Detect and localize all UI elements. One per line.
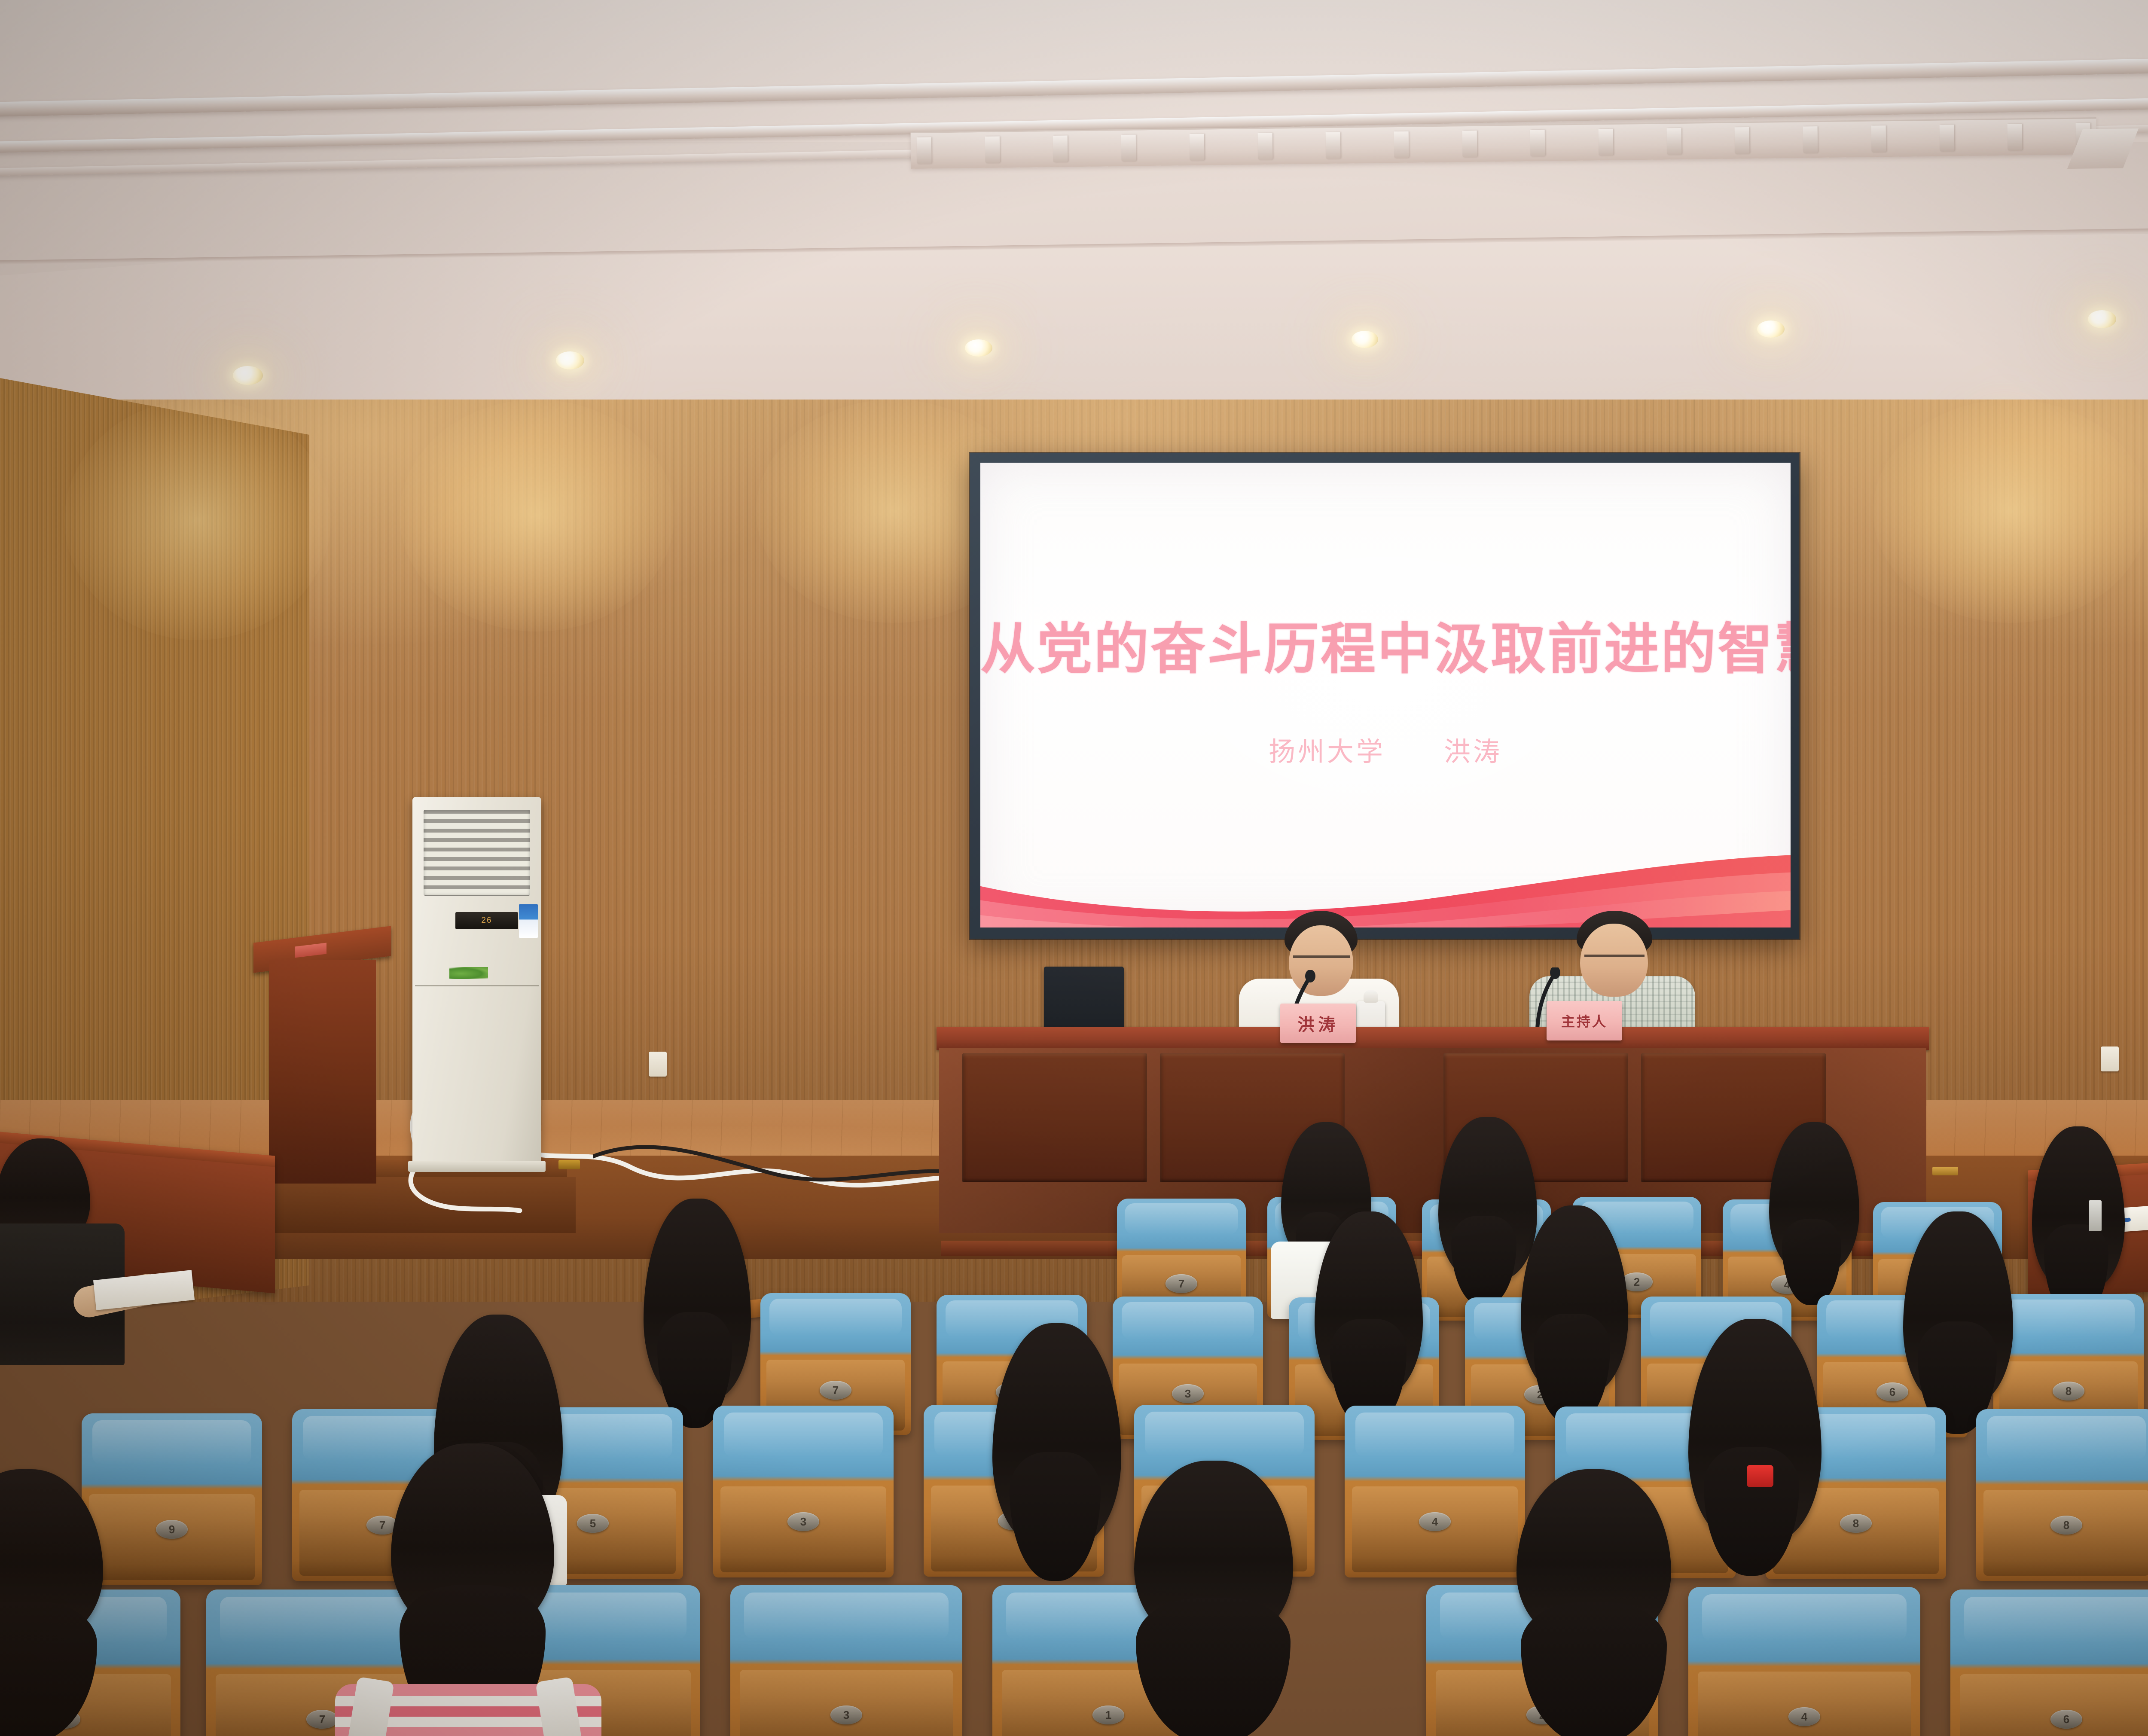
seat-number: 7: [306, 1710, 338, 1729]
air-conditioner[interactable]: 26: [412, 797, 541, 1164]
seat-number: 3: [787, 1512, 819, 1531]
projected-slide: 从党的奋斗历程中汲取前进的智慧和力量 扬州大学 洪涛: [980, 463, 1791, 927]
attendee: [644, 1199, 751, 1400]
ac-display-panel[interactable]: 26: [455, 912, 518, 929]
attendee-foreground: [0, 1469, 120, 1736]
ac-base-plinth: [408, 1161, 546, 1172]
seat-number: 7: [1166, 1274, 1197, 1293]
slide-red-ribbon-graphic: [980, 806, 1791, 927]
downlight-icon: [1352, 331, 1378, 348]
ac-panel-seam: [415, 985, 539, 986]
attendee: [1903, 1211, 2013, 1405]
nameplate-moderator: 主持人: [1547, 1001, 1622, 1040]
attendee-hair-fall: [0, 1602, 97, 1736]
attendee: [992, 1323, 1121, 1547]
nameplate-speaker-label: 洪涛: [1297, 1011, 1339, 1036]
attendee-side-left: [0, 1138, 129, 1379]
lectern: [253, 934, 391, 1184]
seat[interactable]: 4: [1688, 1587, 1920, 1736]
attendee: [2032, 1126, 2125, 1290]
seat-number: 7: [820, 1381, 851, 1400]
ac-display-value: 26: [455, 912, 518, 929]
downlight-icon: [556, 351, 584, 369]
slide-title: 从党的奋斗历程中汲取前进的智慧和力量: [980, 604, 1791, 684]
attendee-hair-clip: [1747, 1465, 1773, 1487]
attendee-hair-clip: [2089, 1200, 2102, 1231]
seat-number: 8: [1840, 1514, 1872, 1533]
nameplate-moderator-label: 主持人: [1561, 1011, 1608, 1031]
speaker-glasses-icon: [1293, 955, 1350, 963]
lectern-body: [269, 960, 376, 1184]
seat-number: 4: [1419, 1512, 1451, 1531]
head-table-panel: [962, 1053, 1147, 1182]
downlight-icon: [965, 339, 992, 357]
moderator-glasses-icon: [1584, 955, 1645, 962]
slide-subtitle: 扬州大学 洪涛: [980, 730, 1791, 769]
seat-number: 9: [156, 1520, 188, 1539]
seat[interactable]: 3: [730, 1585, 962, 1736]
downlight-icon: [233, 366, 263, 385]
head-table-top: [937, 1027, 1929, 1050]
attendee: [1688, 1319, 1822, 1542]
downlight-icon: [1757, 320, 1785, 338]
wall-power-outlet[interactable]: [2101, 1046, 2119, 1071]
seat[interactable]: 8: [1976, 1409, 2148, 1581]
attendee: [1315, 1211, 1423, 1396]
attendee: [1521, 1205, 1628, 1394]
seat-number: 3: [830, 1705, 862, 1724]
seat[interactable]: 6: [1950, 1590, 2148, 1736]
nameplate-speaker: 洪涛: [1280, 1004, 1356, 1043]
lecture-hall-scene: 从党的奋斗历程中汲取前进的智慧和力量 扬州大学 洪涛: [0, 0, 2148, 1736]
attendee-foreground: [1108, 1461, 1315, 1736]
seat-number: 3: [1172, 1384, 1204, 1403]
stage-floor-socket: [558, 1160, 580, 1169]
ac-grille-icon: [424, 810, 530, 896]
seat-number: 4: [1788, 1707, 1820, 1726]
downlight-icon: [2088, 310, 2116, 328]
ac-energy-label: [519, 904, 538, 938]
wall-power-outlet[interactable]: [649, 1052, 667, 1077]
stage-floor-socket: [1932, 1167, 1958, 1175]
projection-screen[interactable]: 从党的奋斗历程中汲取前进的智慧和力量 扬州大学 洪涛: [970, 453, 1799, 939]
seat-number: 6: [2050, 1710, 2082, 1729]
attendee-foreground: [1495, 1469, 1693, 1736]
seat-number: 5: [577, 1514, 609, 1533]
seat-number: 8: [2053, 1382, 2084, 1400]
attendee-foreground: [369, 1443, 576, 1736]
attendee: [1769, 1122, 1859, 1272]
seat[interactable]: 3: [713, 1406, 894, 1577]
ac-leaf-decal-icon: [449, 967, 488, 979]
seat-number: 8: [2050, 1516, 2082, 1535]
attendee-hair-fall: [1521, 1602, 1667, 1736]
attendee-hair-fall: [1136, 1598, 1291, 1736]
